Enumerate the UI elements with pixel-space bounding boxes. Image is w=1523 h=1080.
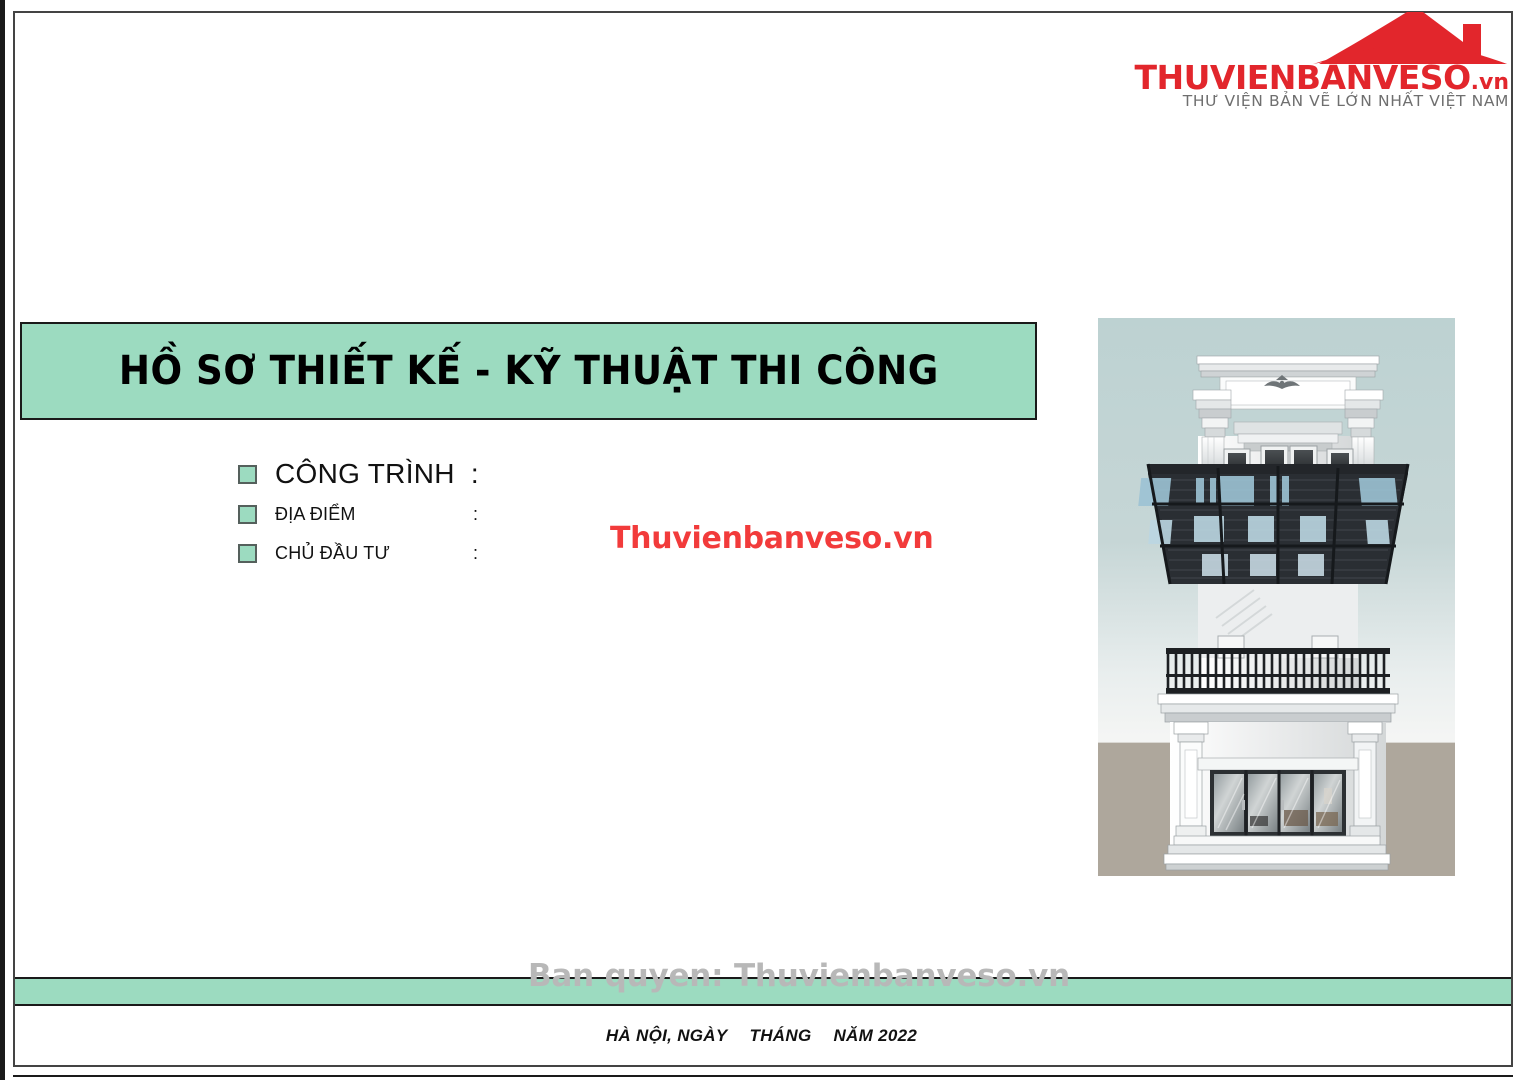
page-bottom-rule [13, 1075, 1513, 1077]
info-label-dia-diem: ĐỊA ĐIỂM [275, 504, 356, 525]
footer-city: HÀ NỘI, NGÀY [606, 1026, 728, 1045]
house-facade-3d-rendering [1098, 318, 1455, 876]
bullet-square-icon [238, 544, 257, 563]
page-left-edge-bar [0, 0, 5, 1080]
info-row-cong-trinh: CÔNG TRÌNH : [238, 458, 658, 490]
info-colon-cong-trinh: : [471, 458, 479, 490]
info-label-chu-dau-tu: CHỦ ĐẦU TƯ [275, 543, 390, 564]
bullet-square-icon [238, 505, 257, 524]
document-title: HỒ SƠ THIẾT KẾ - KỸ THUẬT THI CÔNG [119, 348, 939, 394]
bullet-square-icon [238, 465, 257, 484]
project-info-block: CÔNG TRÌNH : ĐỊA ĐIỂM : CHỦ ĐẦU TƯ : [238, 458, 658, 582]
drawing-cover-page: THUVIENBANVESO.vn THƯ VIỆN BẢN VẼ LỚN NH… [0, 0, 1523, 1080]
footer-year: NĂM 2022 [833, 1026, 917, 1045]
info-colon-dia-diem: : [473, 504, 478, 525]
footer-date-line: HÀ NỘI, NGÀYTHÁNGNĂM 2022 [0, 1026, 1523, 1046]
red-watermark-text: Thuvienbanveso.vn [610, 521, 933, 556]
footer-month: THÁNG [750, 1026, 812, 1045]
document-title-band: HỒ SƠ THIẾT KẾ - KỸ THUẬT THI CÔNG [20, 322, 1037, 420]
grey-watermark-text: Ban quyen: Thuvienbanveso.vn [528, 958, 1070, 994]
site-logo[interactable]: THUVIENBANVESO.vn THƯ VIỆN BẢN VẼ LỚN NH… [1223, 6, 1513, 110]
info-label-cong-trinh: CÔNG TRÌNH [275, 458, 455, 490]
info-row-dia-diem: ĐỊA ĐIỂM : [238, 504, 478, 525]
info-row-chu-dau-tu: CHỦ ĐẦU TƯ : [238, 543, 478, 564]
info-colon-chu-dau-tu: : [473, 543, 478, 564]
logo-tagline: THƯ VIỆN BẢN VẼ LỚN NHẤT VIỆT NAM [1183, 92, 1509, 110]
